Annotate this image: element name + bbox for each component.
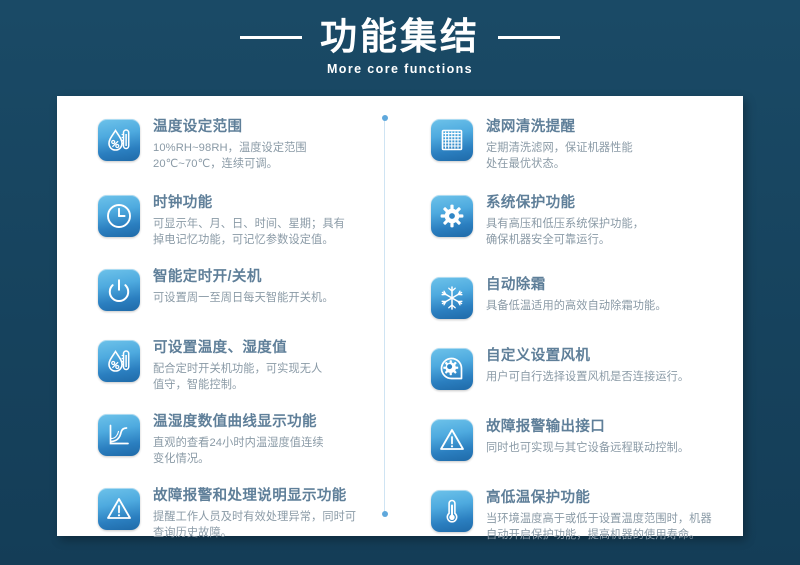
feature-text: 系统保护功能 具有高压和低压系统保护功能， 确保机器安全可靠运行。 (486, 193, 729, 248)
feature-description: 配合定时开关机功能，可实现无人 值守，智能控制。 (153, 361, 374, 393)
feature-item: 系统保护功能 具有高压和低压系统保护功能， 确保机器安全可靠运行。 (431, 193, 729, 248)
feature-title: 温度设定范围 (153, 117, 374, 137)
feature-text: 温湿度数值曲线显示功能 直观的查看24小时内温湿度值连续 变化情况。 (153, 412, 374, 467)
curve-chart-icon (98, 414, 140, 456)
feature-description: 同时也可实现与其它设备远程联动控制。 (486, 440, 729, 456)
feature-title: 故障报警输出接口 (486, 417, 729, 437)
feature-description: 具备低温适用的高效自动除霜功能。 (486, 298, 729, 314)
divider-dot-bottom (382, 511, 388, 517)
page-root: 功能集结 More core functions (0, 0, 800, 565)
title-rule-left (240, 36, 302, 39)
page-subtitle: More core functions (0, 62, 800, 76)
features-card: 温度设定范围 10%RH~98RH，温度设定范围 20℃~70℃，连续可调。 (57, 96, 743, 536)
feature-title: 高低温保护功能 (486, 488, 729, 508)
warning-triangle-icon (98, 488, 140, 530)
feature-text: 温度设定范围 10%RH~98RH，温度设定范围 20℃~70℃，连续可调。 (153, 117, 374, 172)
feature-item: 可设置温度、湿度值 配合定时开关机功能，可实现无人 值守，智能控制。 (98, 338, 374, 393)
feature-item: 自定义设置风机 用户可自行选择设置风机是否连接运行。 (431, 346, 729, 390)
feature-text: 滤网清洗提醒 定期清洗滤网，保证机器性能 处在最优状态。 (486, 117, 729, 172)
feature-text: 可设置温度、湿度值 配合定时开关机功能，可实现无人 值守，智能控制。 (153, 338, 374, 393)
feature-text: 自动除霜 具备低温适用的高效自动除霜功能。 (486, 275, 729, 314)
feature-description: 10%RH~98RH，温度设定范围 20℃~70℃，连续可调。 (153, 140, 374, 172)
feature-text: 时钟功能 可显示年、月、日、时间、星期；具有 掉电记忆功能，可记忆参数设定值。 (153, 193, 374, 248)
feature-item: 高低温保护功能 当环境温度高于或低于设置温度范围时，机器 自动开启保护功能，提高… (431, 488, 729, 543)
feature-description: 用户可自行选择设置风机是否连接运行。 (486, 369, 729, 385)
title-rule-right (498, 36, 560, 39)
features-column-right: 滤网清洗提醒 定期清洗滤网，保证机器性能 处在最优状态。 (384, 96, 743, 536)
feature-title: 故障报警和处理说明显示功能 (153, 486, 374, 506)
feature-title: 自定义设置风机 (486, 346, 729, 366)
thermometer-icon (431, 490, 473, 532)
feature-item: 滤网清洗提醒 定期清洗滤网，保证机器性能 处在最优状态。 (431, 117, 729, 172)
feature-description: 可显示年、月、日、时间、星期；具有 掉电记忆功能，可记忆参数设定值。 (153, 216, 374, 248)
feature-description: 具有高压和低压系统保护功能， 确保机器安全可靠运行。 (486, 216, 729, 248)
features-column-left: 温度设定范围 10%RH~98RH，温度设定范围 20℃~70℃，连续可调。 (57, 96, 384, 536)
warning-triangle-icon (431, 419, 473, 461)
feature-description: 提醒工作人员及时有效处理异常，同时可 查询历史故障。 (153, 509, 374, 541)
blower-fan-icon (431, 348, 473, 390)
feature-description: 当环境温度高于或低于设置温度范围时，机器 自动开启保护功能，提高机器的使用寿命。 (486, 511, 729, 543)
feature-item: 智能定时开/关机 可设置周一至周日每天智能开关机。 (98, 267, 374, 311)
feature-description: 直观的查看24小时内温湿度值连续 变化情况。 (153, 435, 374, 467)
clock-icon (98, 195, 140, 237)
humidity-thermometer-icon (98, 119, 140, 161)
feature-item: 时钟功能 可显示年、月、日、时间、星期；具有 掉电记忆功能，可记忆参数设定值。 (98, 193, 374, 248)
feature-item: 故障报警输出接口 同时也可实现与其它设备远程联动控制。 (431, 417, 729, 461)
feature-text: 故障报警输出接口 同时也可实现与其它设备远程联动控制。 (486, 417, 729, 456)
page-header: 功能集结 More core functions (0, 0, 800, 95)
feature-title: 温湿度数值曲线显示功能 (153, 412, 374, 432)
feature-title: 系统保护功能 (486, 193, 729, 213)
feature-text: 自定义设置风机 用户可自行选择设置风机是否连接运行。 (486, 346, 729, 385)
column-divider (384, 118, 385, 514)
feature-item: 温度设定范围 10%RH~98RH，温度设定范围 20℃~70℃，连续可调。 (98, 117, 374, 172)
gear-icon (431, 195, 473, 237)
feature-title: 可设置温度、湿度值 (153, 338, 374, 358)
power-icon (98, 269, 140, 311)
humidity-thermometer-icon (98, 340, 140, 382)
feature-title: 智能定时开/关机 (153, 267, 374, 287)
snowflake-icon (431, 277, 473, 319)
title-row: 功能集结 (0, 16, 800, 58)
feature-title: 自动除霜 (486, 275, 729, 295)
feature-description: 定期清洗滤网，保证机器性能 处在最优状态。 (486, 140, 729, 172)
feature-item: 自动除霜 具备低温适用的高效自动除霜功能。 (431, 275, 729, 319)
feature-text: 高低温保护功能 当环境温度高于或低于设置温度范围时，机器 自动开启保护功能，提高… (486, 488, 729, 543)
page-title: 功能集结 (320, 16, 480, 58)
feature-text: 故障报警和处理说明显示功能 提醒工作人员及时有效处理异常，同时可 查询历史故障。 (153, 486, 374, 541)
feature-text: 智能定时开/关机 可设置周一至周日每天智能开关机。 (153, 267, 374, 306)
filter-mesh-icon (431, 119, 473, 161)
feature-item: 温湿度数值曲线显示功能 直观的查看24小时内温湿度值连续 变化情况。 (98, 412, 374, 467)
feature-description: 可设置周一至周日每天智能开关机。 (153, 290, 374, 306)
divider-dot-top (382, 115, 388, 121)
feature-title: 滤网清洗提醒 (486, 117, 729, 137)
feature-title: 时钟功能 (153, 193, 374, 213)
feature-item: 故障报警和处理说明显示功能 提醒工作人员及时有效处理异常，同时可 查询历史故障。 (98, 486, 374, 541)
features-columns: 温度设定范围 10%RH~98RH，温度设定范围 20℃~70℃，连续可调。 (57, 96, 743, 536)
